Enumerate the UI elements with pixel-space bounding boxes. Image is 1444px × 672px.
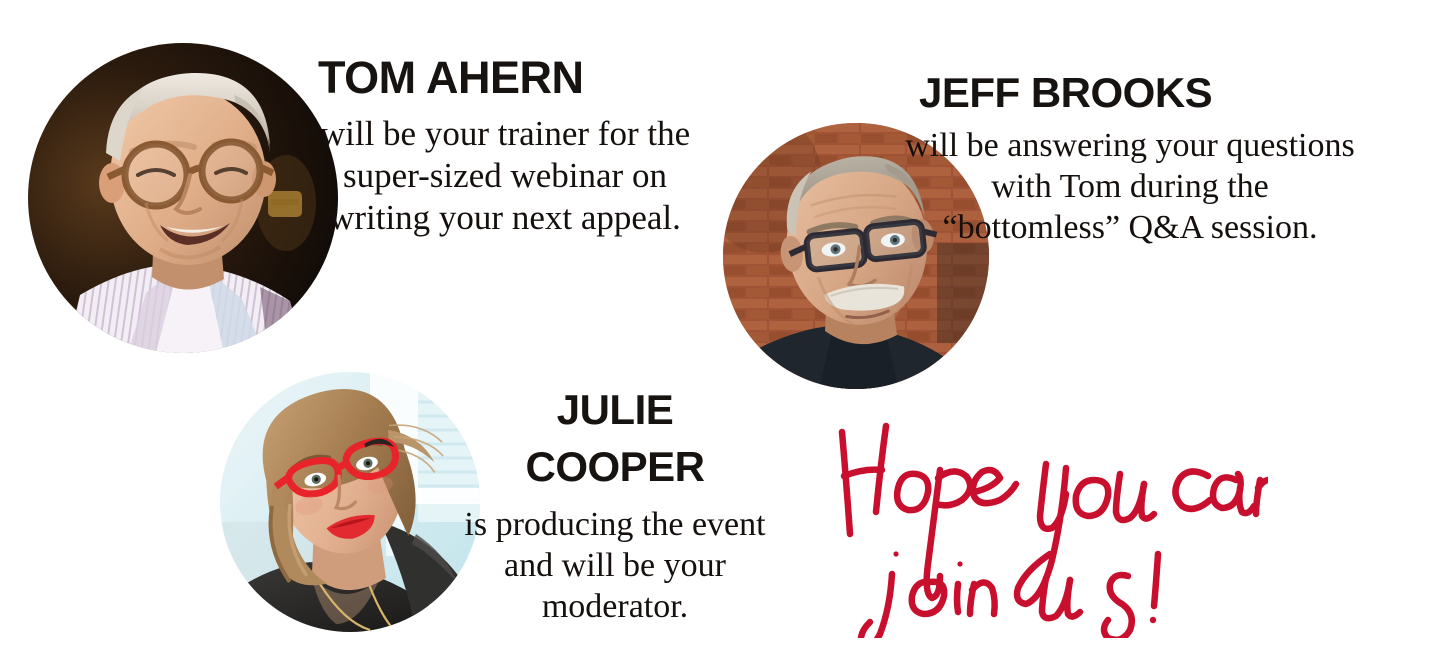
- julie-cooper-name-line1: JULIE: [440, 382, 790, 439]
- handwritten-note: Hope you can join us!: [828, 408, 1268, 638]
- promo-graphic: TOM AHERN will be your trainer for the s…: [0, 0, 1444, 672]
- tom-ahern-description: will be your trainer for the super-sized…: [310, 113, 700, 239]
- julie-cooper-name-line2: COOPER: [440, 439, 790, 496]
- julie-cooper-bio: JULIE COOPER is producing the event and …: [440, 382, 790, 628]
- jeff-brooks-bio: JEFF BROOKS will be answering your quest…: [905, 72, 1355, 248]
- jeff-brooks-name: JEFF BROOKS: [905, 72, 1355, 114]
- tom-ahern-avatar: [28, 43, 338, 353]
- jeff-brooks-description: will be answering your questions with To…: [905, 126, 1355, 248]
- tom-ahern-bio: TOM AHERN will be your trainer for the s…: [310, 55, 700, 239]
- julie-cooper-description: is producing the event and will be your …: [440, 505, 790, 627]
- tom-ahern-name: TOM AHERN: [310, 55, 700, 100]
